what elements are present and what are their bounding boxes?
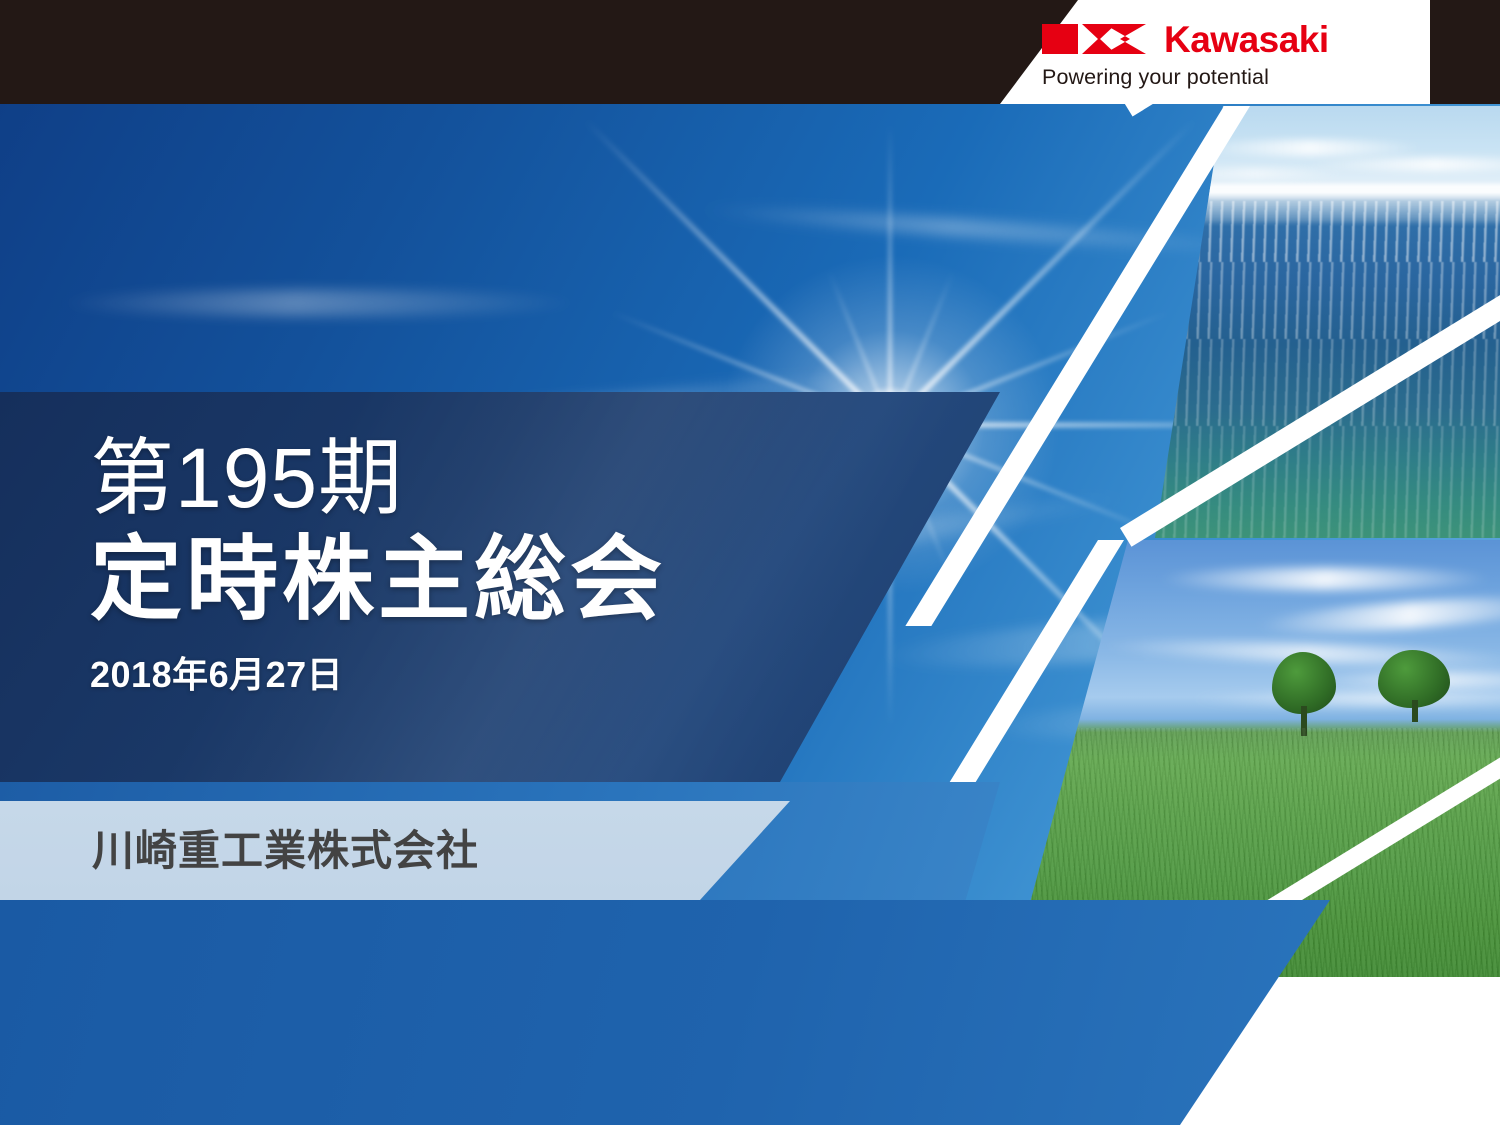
title-date: 2018年6月27日 [90,654,850,696]
tree-left-icon [1272,652,1336,736]
kawasaki-flying-k-icon [1042,20,1154,58]
presentation-title-slide: 第195期 定時株主総会 2018年6月27日 川崎重工業株式会社 Kawasa… [0,0,1500,1125]
kawasaki-logo: Kawasaki Powering your potential [1042,18,1382,90]
title-term-number: 第195期 [90,432,850,524]
title-main: 定時株主総会 [90,528,850,632]
kawasaki-wordmark: Kawasaki [1164,21,1329,58]
bottom-blue-band [0,900,1330,1125]
kawasaki-tagline: Powering your potential [1042,65,1269,89]
company-name: 川崎重工業株式会社 [92,826,479,876]
title-block: 第195期 定時株主総会 2018年6月27日 [90,432,850,696]
tree-right-icon [1378,650,1450,722]
